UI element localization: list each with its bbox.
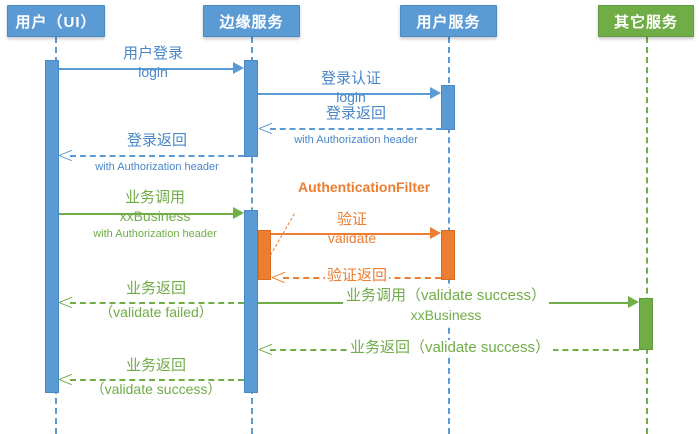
activation-other	[639, 298, 653, 350]
message-label-m9-en: xxBusiness	[408, 308, 485, 324]
message-label-m1-en: login	[138, 65, 168, 81]
arrow-head-m10	[259, 342, 272, 356]
participant-other[interactable]: 其它服务	[598, 5, 694, 37]
message-line-m4	[70, 155, 244, 157]
arrow-head-m7	[272, 270, 285, 284]
sequence-diagram-canvas: 用户（UI） 边缘服务 用户服务 其它服务 用户登录 login 登录认证 lo…	[0, 0, 699, 434]
message-label-m9-cn: 业务调用（validate success）	[343, 288, 549, 305]
arrow-head-m2	[430, 87, 441, 99]
message-label-m6-cn: 验证	[337, 212, 367, 229]
arrow-head-m9	[628, 296, 639, 308]
participant-edge[interactable]: 边缘服务	[203, 5, 300, 37]
activation-edge-login	[244, 60, 258, 157]
arrow-head-m1	[233, 62, 244, 74]
message-label-m4-cn: 登录返回	[127, 133, 187, 150]
message-label-m4-note: with Authorization header	[95, 161, 219, 173]
message-label-m11-en: （validate success）	[91, 382, 222, 398]
activation-filter-userservice	[441, 230, 455, 280]
note-auth-filter: AuthenticationFilter	[298, 180, 430, 196]
message-label-m2-cn: 登录认证	[321, 71, 381, 88]
participant-edge-label: 边缘服务	[219, 11, 283, 32]
participant-userservice[interactable]: 用户服务	[400, 5, 497, 37]
participant-ui-label: 用户（UI）	[15, 11, 96, 32]
activation-ui	[45, 60, 59, 393]
message-label-m7-cn: 验证返回	[325, 268, 389, 285]
message-line-m3	[270, 128, 442, 130]
message-label-m3-cn: 登录返回	[326, 106, 386, 123]
arrow-head-m5	[233, 207, 244, 219]
arrow-head-m4	[59, 148, 72, 162]
message-label-m8-cn: 业务返回	[126, 281, 186, 298]
participant-ui[interactable]: 用户（UI）	[7, 5, 105, 37]
message-label-m5-cn: 业务调用	[125, 190, 185, 207]
participant-other-label: 其它服务	[614, 11, 678, 32]
message-label-m3-note: with Authorization header	[294, 134, 418, 146]
message-label-m6-en: validate	[328, 231, 376, 247]
message-label-m8-en: （validate failed）	[99, 305, 213, 321]
message-label-m1-cn: 用户登录	[123, 46, 183, 63]
activation-userservice-login	[441, 85, 455, 130]
arrow-head-m11	[59, 372, 72, 386]
message-label-m2-en: login	[336, 90, 366, 106]
lifeline-other	[646, 37, 648, 434]
activation-edge-business	[244, 210, 258, 393]
arrow-head-m8	[59, 295, 72, 309]
message-label-m5-en: xxBusiness	[120, 209, 191, 225]
arrow-head-m6	[430, 227, 441, 239]
message-label-m5-note: with Authorization header	[93, 228, 217, 240]
participant-userservice-label: 用户服务	[416, 11, 480, 32]
message-label-m11-cn: 业务返回	[126, 358, 186, 375]
message-label-m10-cn: 业务返回（validate success）	[347, 340, 553, 357]
arrow-head-m3	[259, 121, 272, 135]
